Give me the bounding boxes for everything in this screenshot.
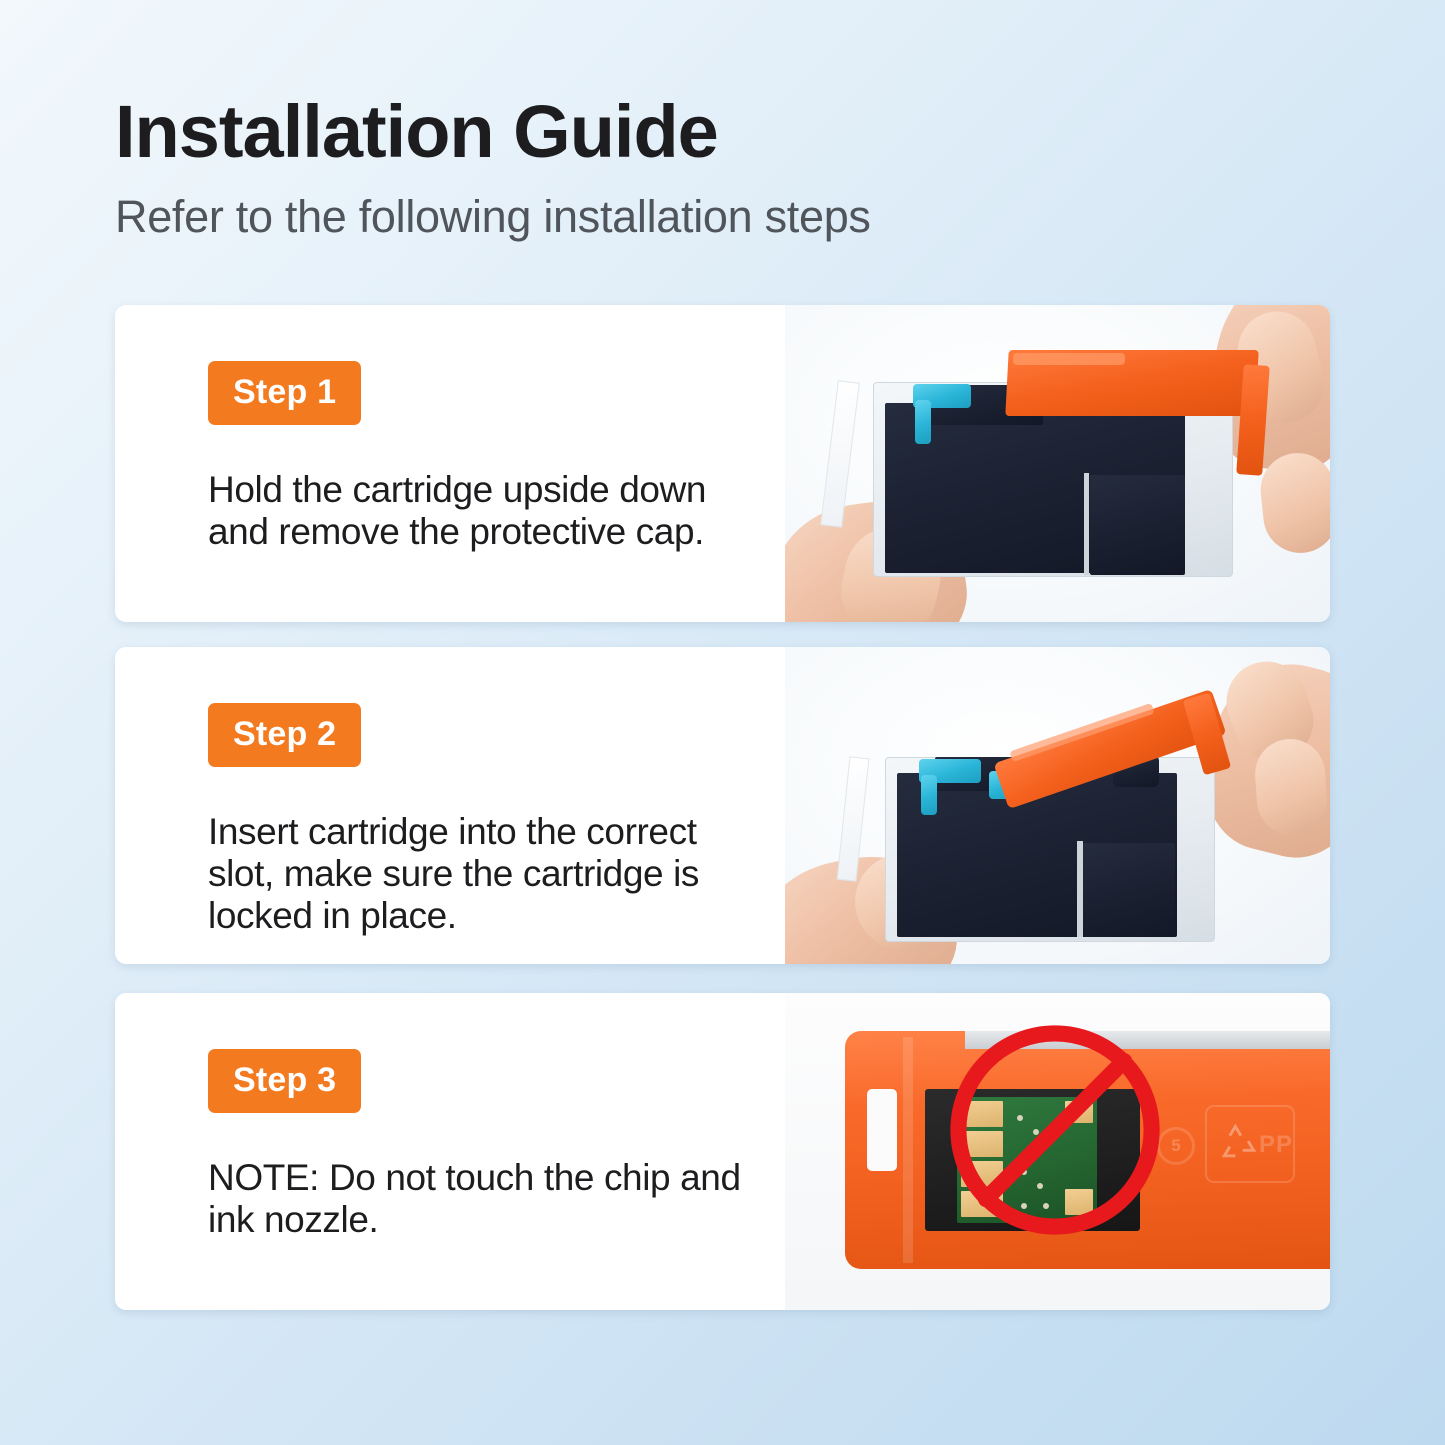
cartridge-ink-notch — [1090, 475, 1185, 575]
step-3-photo: PP 5 — [785, 993, 1330, 1310]
page-title: Installation Guide — [115, 95, 1335, 169]
cyan-clip-leg — [921, 775, 937, 815]
cartridge-side-cutout — [867, 1089, 897, 1171]
orange-cap-highlight — [1013, 353, 1125, 365]
cartridge-left-rib — [903, 1037, 913, 1263]
prohibition-icon — [940, 1015, 1170, 1245]
page-header: Installation Guide Refer to the followin… — [115, 95, 1335, 240]
step-1-badge: Step 1 — [208, 361, 361, 425]
step-1-description: Hold the cartridge upside down and remov… — [208, 469, 768, 553]
step-2-photo — [785, 647, 1330, 964]
step-1-text-panel: Step 1 Hold the cartridge upside down an… — [115, 305, 785, 622]
step-card-1: Step 1 Hold the cartridge upside down an… — [115, 305, 1330, 622]
step-3-badge: Step 3 — [208, 1049, 361, 1113]
step-1-photo — [785, 305, 1330, 622]
page-subtitle: Refer to the following installation step… — [115, 193, 1335, 240]
cartridge-seam — [1077, 841, 1083, 937]
recycle-pp-label: PP — [1259, 1131, 1293, 1159]
recycle-triangle-icon — [1217, 1121, 1261, 1165]
step-2-badge: Step 2 — [208, 703, 361, 767]
cyan-clip-leg — [915, 400, 931, 444]
step-2-text-panel: Step 2 Insert cartridge into the correct… — [115, 647, 785, 964]
step-2-description: Insert cartridge into the correct slot, … — [208, 811, 768, 936]
cartridge-ink-notch — [1083, 843, 1175, 937]
step-card-3: Step 3 NOTE: Do not touch the chip and i… — [115, 993, 1330, 1310]
step-card-2: Step 2 Insert cartridge into the correct… — [115, 647, 1330, 964]
step-3-description: NOTE: Do not touch the chip and ink nozz… — [208, 1157, 768, 1241]
cartridge-seam — [1084, 473, 1089, 575]
right-thumb — [1253, 737, 1330, 838]
step-3-text-panel: Step 3 NOTE: Do not touch the chip and i… — [115, 993, 785, 1310]
